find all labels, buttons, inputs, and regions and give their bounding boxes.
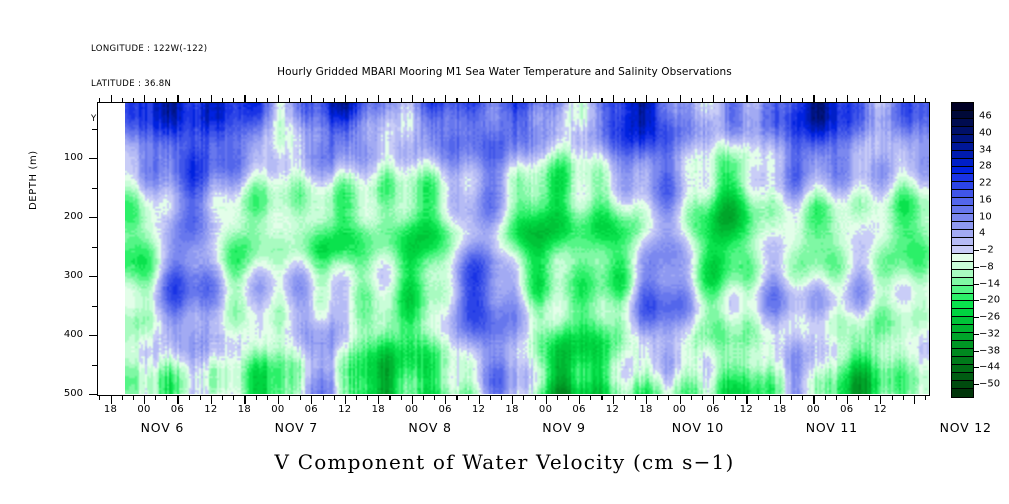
x-axis-minor-tick	[256, 395, 257, 400]
x-axis-top-minor-tick	[802, 98, 803, 103]
colorbar-tick	[974, 384, 979, 385]
x-axis-minor-tick	[869, 395, 870, 400]
x-axis-top-minor-tick	[155, 98, 156, 103]
x-axis-top-major-tick	[111, 95, 112, 103]
x-axis-top-major-tick	[479, 95, 480, 103]
x-axis-minor-tick	[702, 395, 703, 400]
y-axis-title: DEPTH (m)	[28, 150, 39, 210]
x-axis-minor-tick	[99, 395, 100, 400]
y-axis-tick-label: 500	[43, 388, 83, 400]
x-axis-top-minor-tick	[735, 98, 736, 103]
colorbar-swatch	[952, 167, 973, 175]
x-axis-top-minor-tick	[535, 98, 536, 103]
x-axis-minor-tick	[200, 395, 201, 400]
x-axis-minor-tick	[892, 395, 893, 400]
colorbar-tick-label: −2	[979, 245, 994, 256]
x-axis-top-major-tick	[579, 95, 580, 103]
x-axis-minor-tick	[434, 395, 435, 400]
y-axis-tick	[89, 158, 97, 159]
x-axis-top-major-tick	[613, 95, 614, 103]
x-axis-major-tick	[177, 395, 178, 404]
colorbar-swatch	[952, 127, 973, 135]
x-axis-minor-tick	[601, 395, 602, 400]
x-axis-top-minor-tick	[557, 98, 558, 103]
x-axis-hour-label: 00	[399, 404, 425, 415]
x-axis-minor-tick	[423, 395, 424, 400]
colorbar-tick	[974, 351, 979, 352]
x-axis-major-tick	[278, 395, 279, 404]
colorbar-tick-label: −8	[979, 261, 994, 272]
x-axis-top-minor-tick	[624, 98, 625, 103]
colorbar-swatch	[952, 333, 973, 341]
colorbar-swatch	[952, 151, 973, 159]
x-axis-minor-tick	[356, 395, 357, 400]
x-axis-top-minor-tick	[300, 98, 301, 103]
colorbar-swatch	[952, 373, 973, 381]
plot-frame	[97, 102, 930, 396]
y-axis-tick	[89, 276, 97, 277]
x-axis-minor-tick	[590, 395, 591, 400]
colorbar-swatch	[952, 341, 973, 349]
latitude-label: LATITUDE : 36.8N	[91, 79, 207, 91]
x-axis-top-minor-tick	[825, 98, 826, 103]
x-axis-minor-tick	[389, 395, 390, 400]
page-title: Hourly Gridded MBARI Mooring M1 Sea Wate…	[0, 66, 1009, 78]
x-axis-major-tick	[244, 395, 245, 404]
colorbar-swatch	[952, 301, 973, 309]
x-axis-top-major-tick	[445, 95, 446, 103]
colorbar-tick-label: 22	[979, 178, 992, 189]
x-axis-major-tick	[311, 395, 312, 404]
x-axis-major-tick	[512, 395, 513, 404]
x-axis-top-minor-tick	[133, 98, 134, 103]
x-axis-minor-tick	[456, 395, 457, 400]
colorbar-tick-label: 46	[979, 111, 992, 122]
x-axis-hour-label: 12	[466, 404, 492, 415]
x-axis-hour-label: 06	[700, 404, 726, 415]
x-axis-top-minor-tick	[423, 98, 424, 103]
x-axis-hour-label: 06	[432, 404, 458, 415]
x-axis-minor-tick	[166, 395, 167, 400]
x-axis-minor-tick	[825, 395, 826, 400]
x-axis-top-major-tick	[177, 95, 178, 103]
x-axis-day-label: NOV 10	[653, 420, 743, 435]
x-axis-major-tick	[546, 395, 547, 404]
x-axis-major-tick	[680, 395, 681, 404]
x-axis-major-tick	[646, 395, 647, 404]
x-axis-minor-tick	[401, 395, 402, 400]
colorbar-swatch	[952, 286, 973, 294]
x-axis-major-tick	[378, 395, 379, 404]
x-axis-top-minor-tick	[401, 98, 402, 103]
colorbar-tick-label: 40	[979, 127, 992, 138]
heatmap-canvas	[125, 103, 929, 394]
x-axis-top-major-tick	[813, 95, 814, 103]
x-axis-major-tick	[613, 395, 614, 404]
x-axis-day-label: NOV 6	[117, 420, 207, 435]
x-axis-minor-tick	[501, 395, 502, 400]
x-axis-top-minor-tick	[590, 98, 591, 103]
x-axis-minor-tick	[300, 395, 301, 400]
x-axis-top-minor-tick	[903, 98, 904, 103]
x-axis-hour-label: 12	[867, 404, 893, 415]
x-axis-hour-label: 18	[231, 404, 257, 415]
colorbar-tick-label: −44	[979, 362, 1000, 373]
x-axis-top-minor-tick	[657, 98, 658, 103]
x-axis-major-tick	[345, 395, 346, 404]
x-axis-top-minor-tick	[289, 98, 290, 103]
x-axis-major-tick	[780, 395, 781, 404]
x-axis-minor-tick	[903, 395, 904, 400]
x-axis-major-tick	[144, 395, 145, 404]
x-axis-hour-label: 06	[834, 404, 860, 415]
x-axis-hour-label: 00	[800, 404, 826, 415]
x-axis-top-minor-tick	[200, 98, 201, 103]
colorbar-swatch	[952, 381, 973, 389]
x-axis-major-tick	[412, 395, 413, 404]
x-axis-major-tick	[111, 395, 112, 404]
y-axis-minor-tick	[92, 306, 97, 307]
colorbar-swatch	[952, 294, 973, 302]
x-axis-hour-label: 00	[265, 404, 291, 415]
x-axis-top-minor-tick	[635, 98, 636, 103]
colorbar-tick	[974, 334, 979, 335]
colorbar-swatch	[952, 270, 973, 278]
x-axis-major-tick	[579, 395, 580, 404]
colorbar-swatch	[952, 309, 973, 317]
x-axis-hour-label: 00	[131, 404, 157, 415]
x-axis-top-minor-tick	[791, 98, 792, 103]
x-axis-top-major-tick	[880, 95, 881, 103]
colorbar-swatch	[952, 349, 973, 357]
colorbar-tick	[974, 250, 979, 251]
x-axis-top-major-tick	[211, 95, 212, 103]
x-axis-top-major-tick	[345, 95, 346, 103]
x-axis-hour-label: 00	[667, 404, 693, 415]
x-axis-minor-tick	[222, 395, 223, 400]
figure-caption: V Component of Water Velocity (cm s−1)	[0, 450, 1009, 474]
x-axis-top-minor-tick	[222, 98, 223, 103]
x-axis-top-minor-tick	[758, 98, 759, 103]
x-axis-top-minor-tick	[568, 98, 569, 103]
x-axis-top-major-tick	[713, 95, 714, 103]
colorbar-tick	[974, 284, 979, 285]
y-axis-tick-label: 200	[43, 211, 83, 223]
colorbar-swatch	[952, 317, 973, 325]
x-axis-hour-label: 06	[566, 404, 592, 415]
x-axis-top-minor-tick	[601, 98, 602, 103]
x-axis-hour-label: 18	[767, 404, 793, 415]
x-axis-day-label: NOV 11	[787, 420, 877, 435]
x-axis-top-minor-tick	[389, 98, 390, 103]
x-axis-top-minor-tick	[925, 98, 926, 103]
x-axis-minor-tick	[289, 395, 290, 400]
x-axis-minor-tick	[233, 395, 234, 400]
x-axis-minor-tick	[925, 395, 926, 400]
colorbar-tick	[974, 300, 979, 301]
x-axis-top-minor-tick	[869, 98, 870, 103]
x-axis-top-major-tick	[914, 95, 915, 103]
y-axis-tick	[89, 335, 97, 336]
colorbar	[951, 102, 974, 398]
x-axis-major-tick	[813, 395, 814, 404]
colorbar-swatch	[952, 143, 973, 151]
x-axis-minor-tick	[758, 395, 759, 400]
colorbar-swatch	[952, 103, 973, 111]
colorbar-tick-label: −38	[979, 345, 1000, 356]
x-axis-minor-tick	[557, 395, 558, 400]
colorbar-swatch	[952, 182, 973, 190]
x-axis-top-minor-tick	[702, 98, 703, 103]
x-axis-top-minor-tick	[189, 98, 190, 103]
colorbar-swatch	[952, 222, 973, 230]
colorbar-tick-label: 28	[979, 161, 992, 172]
colorbar-swatch	[952, 262, 973, 270]
colorbar-tick	[974, 267, 979, 268]
colorbar-swatch	[952, 357, 973, 365]
x-axis-hour-label: 18	[633, 404, 659, 415]
y-axis-tick-label: 300	[43, 270, 83, 282]
x-axis-minor-tick	[724, 395, 725, 400]
colorbar-tick-label: −14	[979, 278, 1000, 289]
x-axis-top-minor-tick	[334, 98, 335, 103]
x-axis-minor-tick	[769, 395, 770, 400]
x-axis-day-label: NOV 9	[519, 420, 609, 435]
x-axis-minor-tick	[122, 395, 123, 400]
x-axis-hour-label: 18	[365, 404, 391, 415]
x-axis-top-minor-tick	[691, 98, 692, 103]
x-axis-top-minor-tick	[858, 98, 859, 103]
x-axis-minor-tick	[735, 395, 736, 400]
colorbar-tick-label: −50	[979, 379, 1000, 390]
x-axis-top-minor-tick	[356, 98, 357, 103]
x-axis-hour-label: 06	[164, 404, 190, 415]
x-axis-major-tick	[746, 395, 747, 404]
x-axis-minor-tick	[624, 395, 625, 400]
x-axis-day-label: NOV 7	[251, 420, 341, 435]
x-axis-top-minor-tick	[122, 98, 123, 103]
x-axis-minor-tick	[323, 395, 324, 400]
colorbar-tick-label: −20	[979, 295, 1000, 306]
colorbar-swatch	[952, 246, 973, 254]
x-axis-major-tick	[713, 395, 714, 404]
colorbar-swatch	[952, 190, 973, 198]
x-axis-top-major-tick	[311, 95, 312, 103]
x-axis-hour-label: 12	[198, 404, 224, 415]
x-axis-hour-label: 18	[499, 404, 525, 415]
x-axis-minor-tick	[133, 395, 134, 400]
y-axis-tick	[89, 394, 97, 395]
x-axis-minor-tick	[155, 395, 156, 400]
x-axis-hour-label: 00	[533, 404, 559, 415]
x-axis-top-major-tick	[412, 95, 413, 103]
colorbar-swatch	[952, 389, 973, 397]
x-axis-top-minor-tick	[256, 98, 257, 103]
colorbar-tick-label: 34	[979, 144, 992, 155]
x-axis-top-minor-tick	[456, 98, 457, 103]
y-axis-minor-tick	[92, 247, 97, 248]
colorbar-swatch	[952, 111, 973, 119]
colorbar-tick-label: −26	[979, 312, 1000, 323]
x-axis-top-major-tick	[144, 95, 145, 103]
x-axis-minor-tick	[490, 395, 491, 400]
colorbar-swatch	[952, 135, 973, 143]
x-axis-hour-label: 12	[600, 404, 626, 415]
x-axis-minor-tick	[468, 395, 469, 400]
x-axis-top-major-tick	[278, 95, 279, 103]
x-axis-major-tick	[914, 395, 915, 404]
longitude-label: LONGITUDE : 122W(-122)	[91, 44, 207, 56]
x-axis-minor-tick	[802, 395, 803, 400]
colorbar-tick	[974, 317, 979, 318]
x-axis-top-minor-tick	[523, 98, 524, 103]
x-axis-top-minor-tick	[434, 98, 435, 103]
x-axis-hour-label: 12	[733, 404, 759, 415]
x-axis-major-tick	[479, 395, 480, 404]
colorbar-swatch	[952, 365, 973, 373]
x-axis-top-minor-tick	[892, 98, 893, 103]
x-axis-top-minor-tick	[668, 98, 669, 103]
x-axis-top-minor-tick	[323, 98, 324, 103]
x-axis-minor-tick	[568, 395, 569, 400]
x-axis-minor-tick	[334, 395, 335, 400]
x-axis-day-label: NOV 12	[921, 420, 1009, 435]
x-axis-top-minor-tick	[468, 98, 469, 103]
colorbar-tick-label: −32	[979, 328, 1000, 339]
x-axis-day-label: NOV 8	[385, 420, 475, 435]
x-axis-top-major-tick	[646, 95, 647, 103]
x-axis-hour-label: 18	[98, 404, 124, 415]
colorbar-tick-label: 10	[979, 211, 992, 222]
x-axis-top-minor-tick	[836, 98, 837, 103]
x-axis-top-minor-tick	[724, 98, 725, 103]
colorbar-swatch	[952, 230, 973, 238]
x-axis-top-minor-tick	[267, 98, 268, 103]
x-axis-top-major-tick	[546, 95, 547, 103]
x-axis-top-minor-tick	[769, 98, 770, 103]
x-axis-minor-tick	[635, 395, 636, 400]
colorbar-tick-label: 16	[979, 194, 992, 205]
x-axis-top-minor-tick	[367, 98, 368, 103]
x-axis-top-minor-tick	[99, 98, 100, 103]
y-axis-minor-tick	[92, 188, 97, 189]
colorbar-swatch	[952, 325, 973, 333]
x-axis-top-major-tick	[512, 95, 513, 103]
x-axis-top-major-tick	[780, 95, 781, 103]
colorbar-swatch	[952, 159, 973, 167]
colorbar-swatch	[952, 198, 973, 206]
x-axis-top-major-tick	[680, 95, 681, 103]
x-axis-top-major-tick	[847, 95, 848, 103]
x-axis-major-tick	[847, 395, 848, 404]
x-axis-minor-tick	[791, 395, 792, 400]
colorbar-swatch	[952, 278, 973, 286]
x-axis-minor-tick	[858, 395, 859, 400]
y-axis-minor-tick	[92, 129, 97, 130]
x-axis-hour-label: 06	[298, 404, 324, 415]
y-axis-tick	[89, 217, 97, 218]
colorbar-swatch	[952, 206, 973, 214]
x-axis-major-tick	[211, 395, 212, 404]
x-axis-top-minor-tick	[490, 98, 491, 103]
x-axis-minor-tick	[691, 395, 692, 400]
x-axis-top-major-tick	[244, 95, 245, 103]
x-axis-top-minor-tick	[501, 98, 502, 103]
x-axis-minor-tick	[267, 395, 268, 400]
y-axis-minor-tick	[92, 365, 97, 366]
colorbar-swatch	[952, 254, 973, 262]
x-axis-major-tick	[880, 395, 881, 404]
colorbar-tick	[974, 367, 979, 368]
y-axis-tick-label: 400	[43, 329, 83, 341]
colorbar-swatch	[952, 238, 973, 246]
x-axis-minor-tick	[657, 395, 658, 400]
x-axis-minor-tick	[523, 395, 524, 400]
x-axis-major-tick	[445, 395, 446, 404]
x-axis-top-minor-tick	[233, 98, 234, 103]
x-axis-top-major-tick	[746, 95, 747, 103]
x-axis-hour-label: 12	[332, 404, 358, 415]
x-axis-top-minor-tick	[166, 98, 167, 103]
x-axis-top-major-tick	[378, 95, 379, 103]
x-axis-minor-tick	[367, 395, 368, 400]
colorbar-swatch	[952, 119, 973, 127]
x-axis-minor-tick	[189, 395, 190, 400]
colorbar-swatch	[952, 174, 973, 182]
x-axis-minor-tick	[535, 395, 536, 400]
y-axis-tick-label: 100	[43, 152, 83, 164]
colorbar-swatch	[952, 214, 973, 222]
colorbar-tick-label: 4	[979, 228, 985, 239]
x-axis-minor-tick	[668, 395, 669, 400]
x-axis-minor-tick	[836, 395, 837, 400]
